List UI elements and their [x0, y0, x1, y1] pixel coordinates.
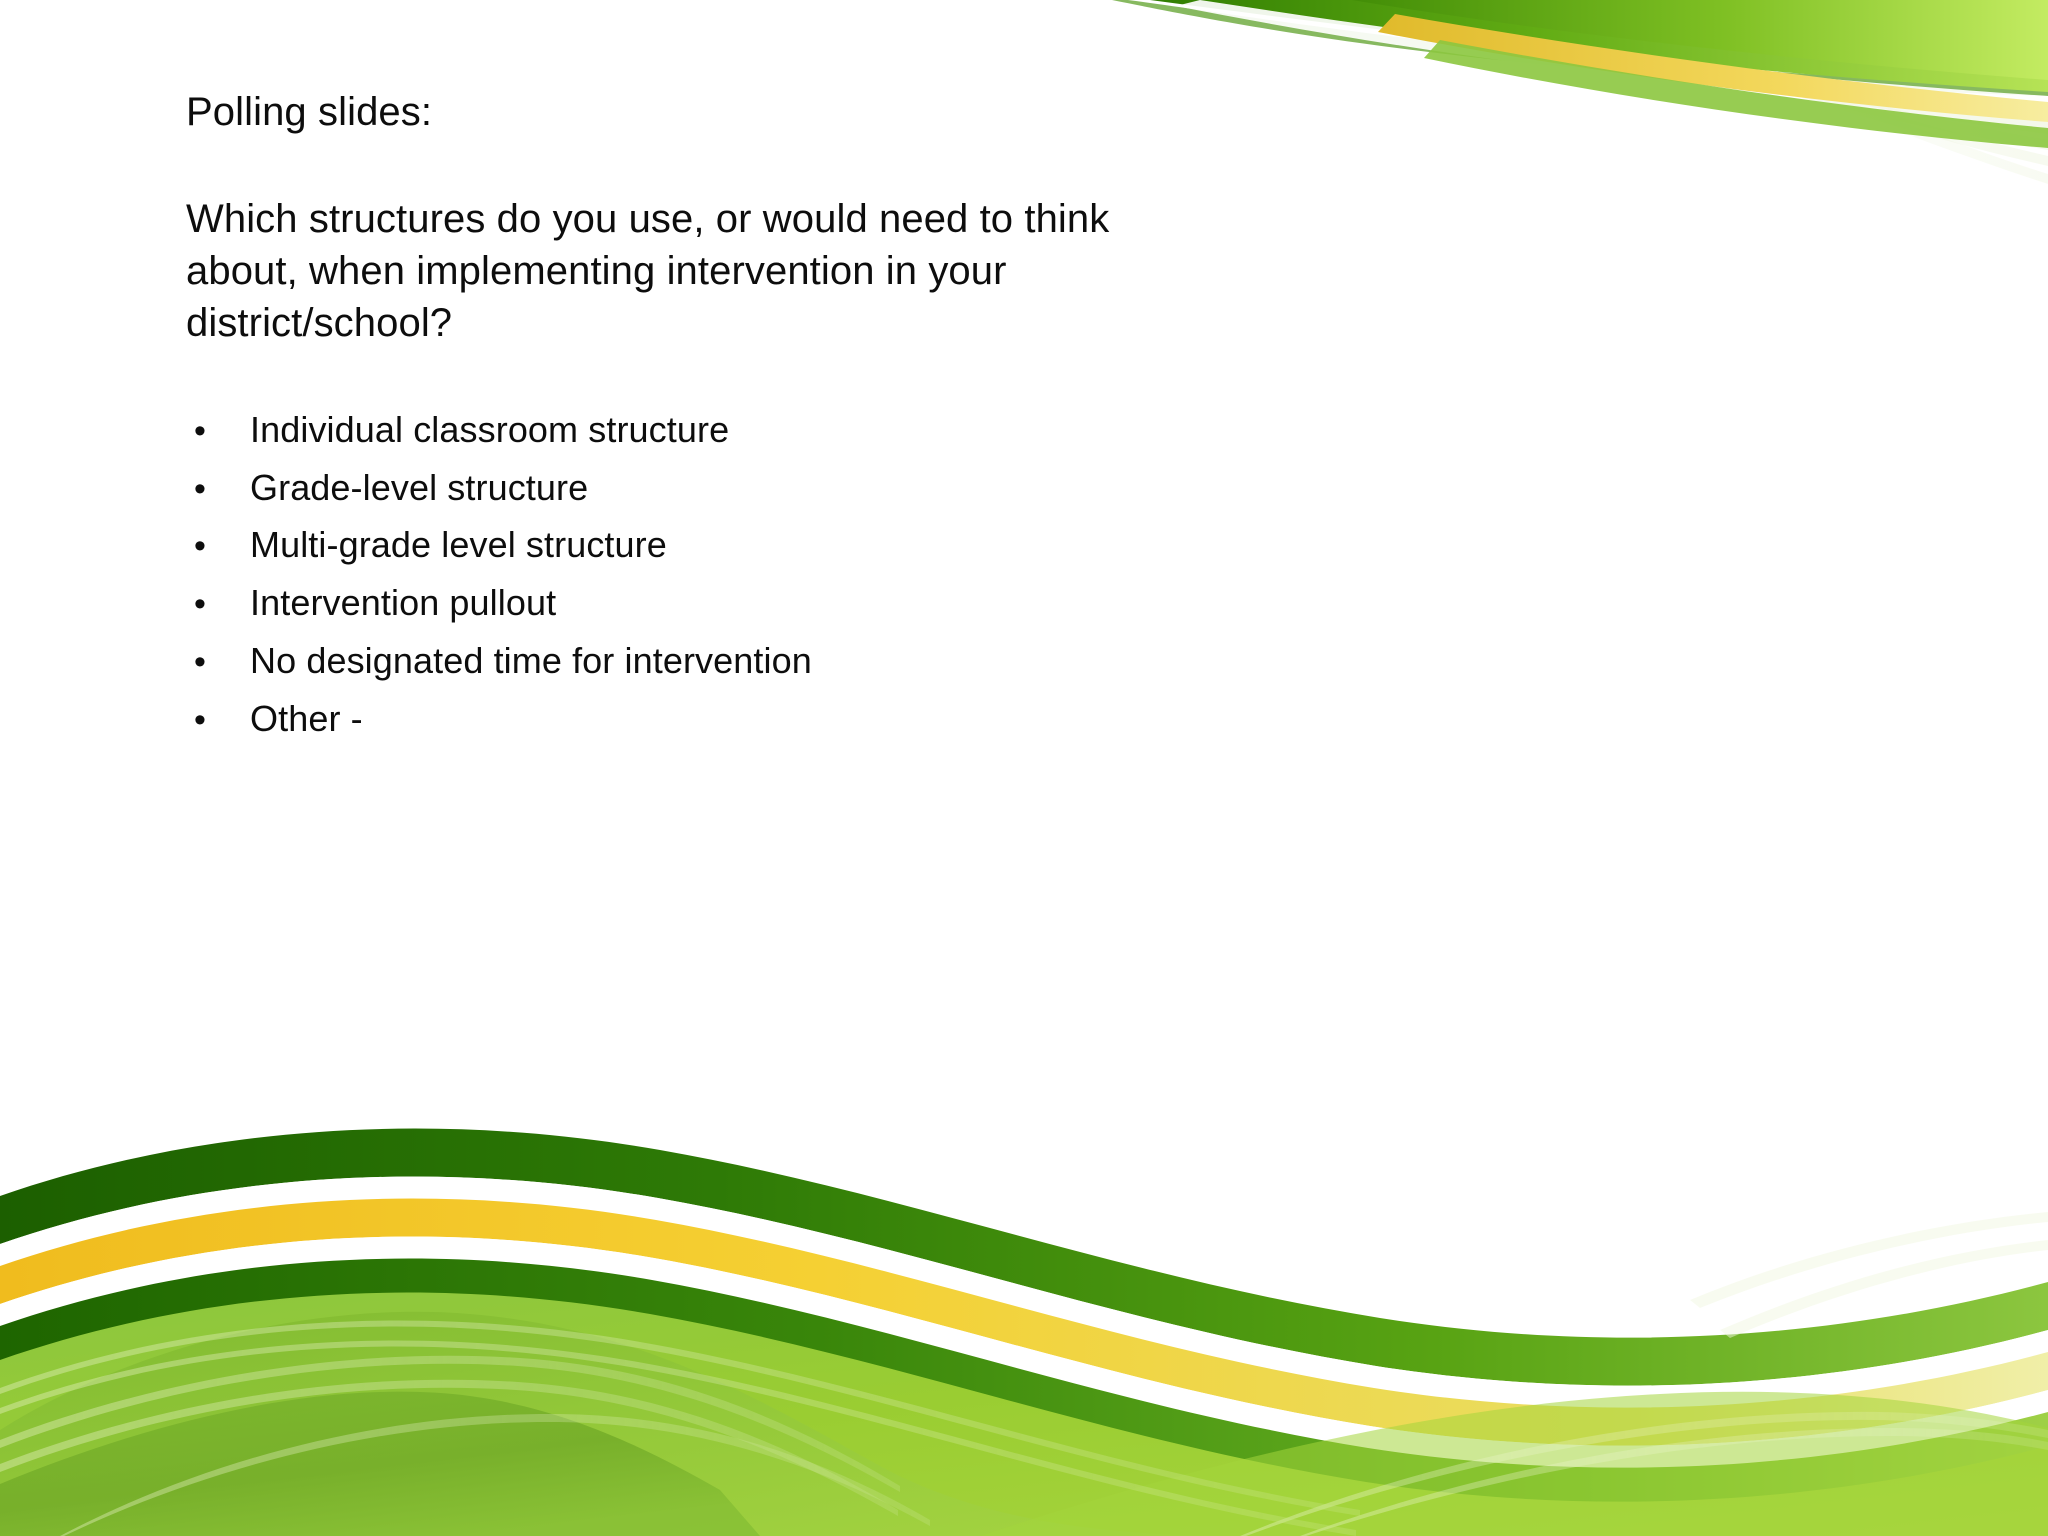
poll-option-label: Grade-level structure [250, 465, 1346, 512]
top-swoosh-lower-edge [1424, 40, 2048, 148]
top-swoosh-thin-line [1112, 0, 2048, 96]
poll-option-label: Individual classroom structure [250, 407, 1346, 454]
poll-option-intervention-pullout[interactable]: • Intervention pullout [186, 580, 1346, 627]
bottom-wave-dark-band-1 [0, 1129, 2048, 1386]
bottom-wave-dark-band-2 [0, 1259, 2048, 1526]
poll-option-grade-level-structure[interactable]: • Grade-level structure [186, 465, 1346, 512]
bullet-icon: • [186, 587, 250, 621]
slide-lead-line: Polling slides: [186, 86, 1346, 139]
poll-question: Which structures do you use, or would ne… [186, 193, 1306, 349]
poll-question-line-1: Which structures do you use, or would ne… [186, 193, 1306, 245]
poll-option-label: Multi-grade level structure [250, 522, 1346, 569]
bottom-wave-lime-fill [0, 1293, 2048, 1536]
top-swoosh-gold-stripe [1378, 14, 2048, 122]
bottom-wave-hairlines [0, 1321, 2048, 1536]
poll-question-line-3: district/school? [186, 297, 1306, 349]
bullet-icon: • [186, 529, 250, 563]
bottom-wave-right-sweep [980, 1392, 2048, 1536]
poll-option-individual-classroom-structure[interactable]: • Individual classroom structure [186, 407, 1346, 454]
presentation-slide: Polling slides: Which structures do you … [0, 0, 2048, 1536]
bottom-wave-white-gap-2 [0, 1237, 2048, 1468]
poll-option-other[interactable]: • Other - [186, 696, 1346, 743]
top-swoosh-inner-band [1330, 0, 2048, 80]
bullet-icon: • [186, 472, 250, 506]
poll-option-label: No designated time for intervention [250, 638, 1346, 685]
bottom-wave-olive-shade [0, 1392, 760, 1536]
top-swoosh-hairlines [1390, 0, 2048, 184]
poll-option-label: Intervention pullout [250, 580, 1346, 627]
slide-text-body: Polling slides: Which structures do you … [186, 86, 1346, 754]
poll-option-multi-grade-level-structure[interactable]: • Multi-grade level structure [186, 522, 1346, 569]
bullet-icon: • [186, 703, 250, 737]
poll-question-line-2: about, when implementing intervention in… [186, 245, 1306, 297]
bottom-wave-inner-hill-left [0, 1312, 1240, 1536]
poll-options-list: • Individual classroom structure • Grade… [186, 407, 1346, 743]
bottom-wave-white-gap-1 [0, 1177, 2048, 1408]
top-swoosh-main-band [1120, 0, 2048, 92]
bullet-icon: • [186, 414, 250, 448]
poll-option-no-designated-time[interactable]: • No designated time for intervention [186, 638, 1346, 685]
bottom-wave-gold-band [0, 1199, 2048, 1446]
poll-option-label: Other - [250, 696, 1346, 743]
bullet-icon: • [186, 645, 250, 679]
bottom-wave-right-wisps [1690, 1212, 2048, 1338]
